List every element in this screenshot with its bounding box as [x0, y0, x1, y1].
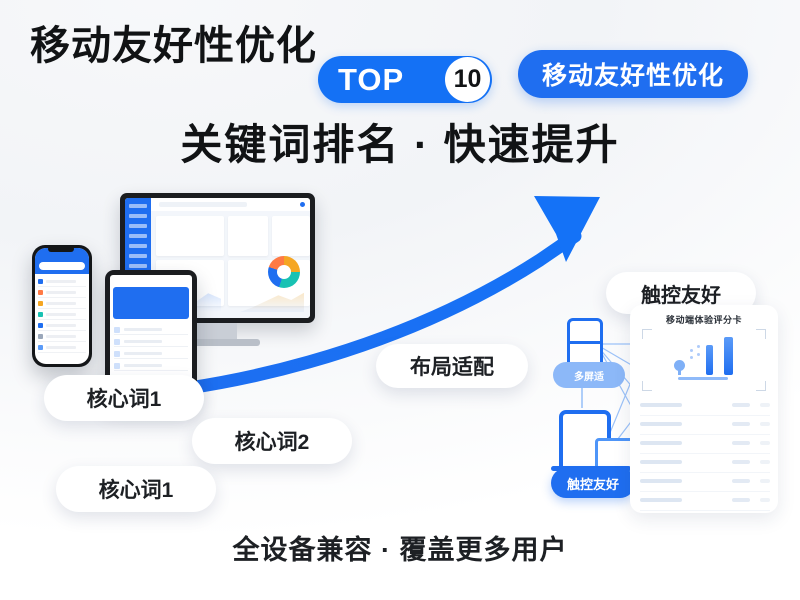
phone-search-bar	[39, 262, 85, 270]
device-cluster	[20, 185, 340, 385]
list-item	[38, 278, 86, 287]
list-item	[114, 325, 188, 335]
table-row	[640, 416, 770, 435]
diagram-pill-touch[interactable]: 触控友好	[551, 468, 635, 498]
table-row	[640, 492, 770, 511]
table-row	[640, 397, 770, 416]
list-item	[38, 322, 86, 331]
dashboard-avatar	[300, 202, 305, 207]
top-badge-word: TOP	[338, 64, 404, 95]
list-item	[114, 349, 188, 359]
diagram-pill-screen[interactable]: 多屏适	[553, 362, 625, 388]
poster-canvas: 移动友好性优化 TOP 10 移动友好性优化 关键词排名 · 快速提升	[0, 0, 800, 600]
list-item	[38, 311, 86, 320]
dashboard-card	[156, 216, 224, 256]
page-title: 移动友好性优化	[30, 26, 317, 66]
list-item	[114, 361, 188, 371]
table-row	[640, 473, 770, 492]
donut-chart	[268, 256, 300, 288]
list-item	[38, 333, 86, 342]
footer-tagline: 全设备兼容 · 覆盖更多用户	[0, 528, 800, 567]
list-item	[114, 337, 188, 347]
score-card-title: 移动端体验评分卡	[630, 313, 778, 326]
dashboard-topbar	[151, 198, 310, 212]
tablet-banner	[113, 287, 189, 319]
top-rank-badge: TOP 10	[318, 56, 492, 103]
phone-screen	[35, 248, 89, 364]
list-item	[38, 344, 86, 353]
bar	[724, 337, 733, 375]
dashboard-card	[228, 216, 268, 256]
dashboard-card	[272, 216, 310, 256]
table-row	[640, 454, 770, 473]
mobile-experience-diagram: 多屏适 触控友好 移动端体验评分卡	[545, 300, 785, 515]
location-pin-icon	[674, 360, 685, 371]
bar	[706, 345, 713, 375]
chart-baseline	[678, 377, 728, 380]
mini-bar-chart	[670, 339, 742, 383]
score-table	[640, 397, 770, 511]
keyword-pill-1[interactable]: 核心词1	[44, 375, 204, 421]
monitor-stand	[197, 323, 237, 339]
smartphone-device	[32, 245, 92, 367]
list-item	[38, 300, 86, 309]
feature-pill-layout[interactable]: 布局适配	[376, 344, 528, 388]
list-item	[38, 289, 86, 298]
chart-frame	[642, 329, 766, 391]
header-tag-pill: 移动友好性优化	[518, 50, 748, 98]
keyword-pill-2[interactable]: 核心词2	[192, 418, 352, 464]
top-badge-number: 10	[445, 57, 490, 102]
score-card: 移动端体验评分卡	[630, 305, 778, 513]
table-row	[640, 435, 770, 454]
dashboard-search-bar	[159, 202, 247, 207]
phone-notch	[48, 246, 74, 252]
keyword-pill-3[interactable]: 核心词1	[56, 466, 216, 512]
